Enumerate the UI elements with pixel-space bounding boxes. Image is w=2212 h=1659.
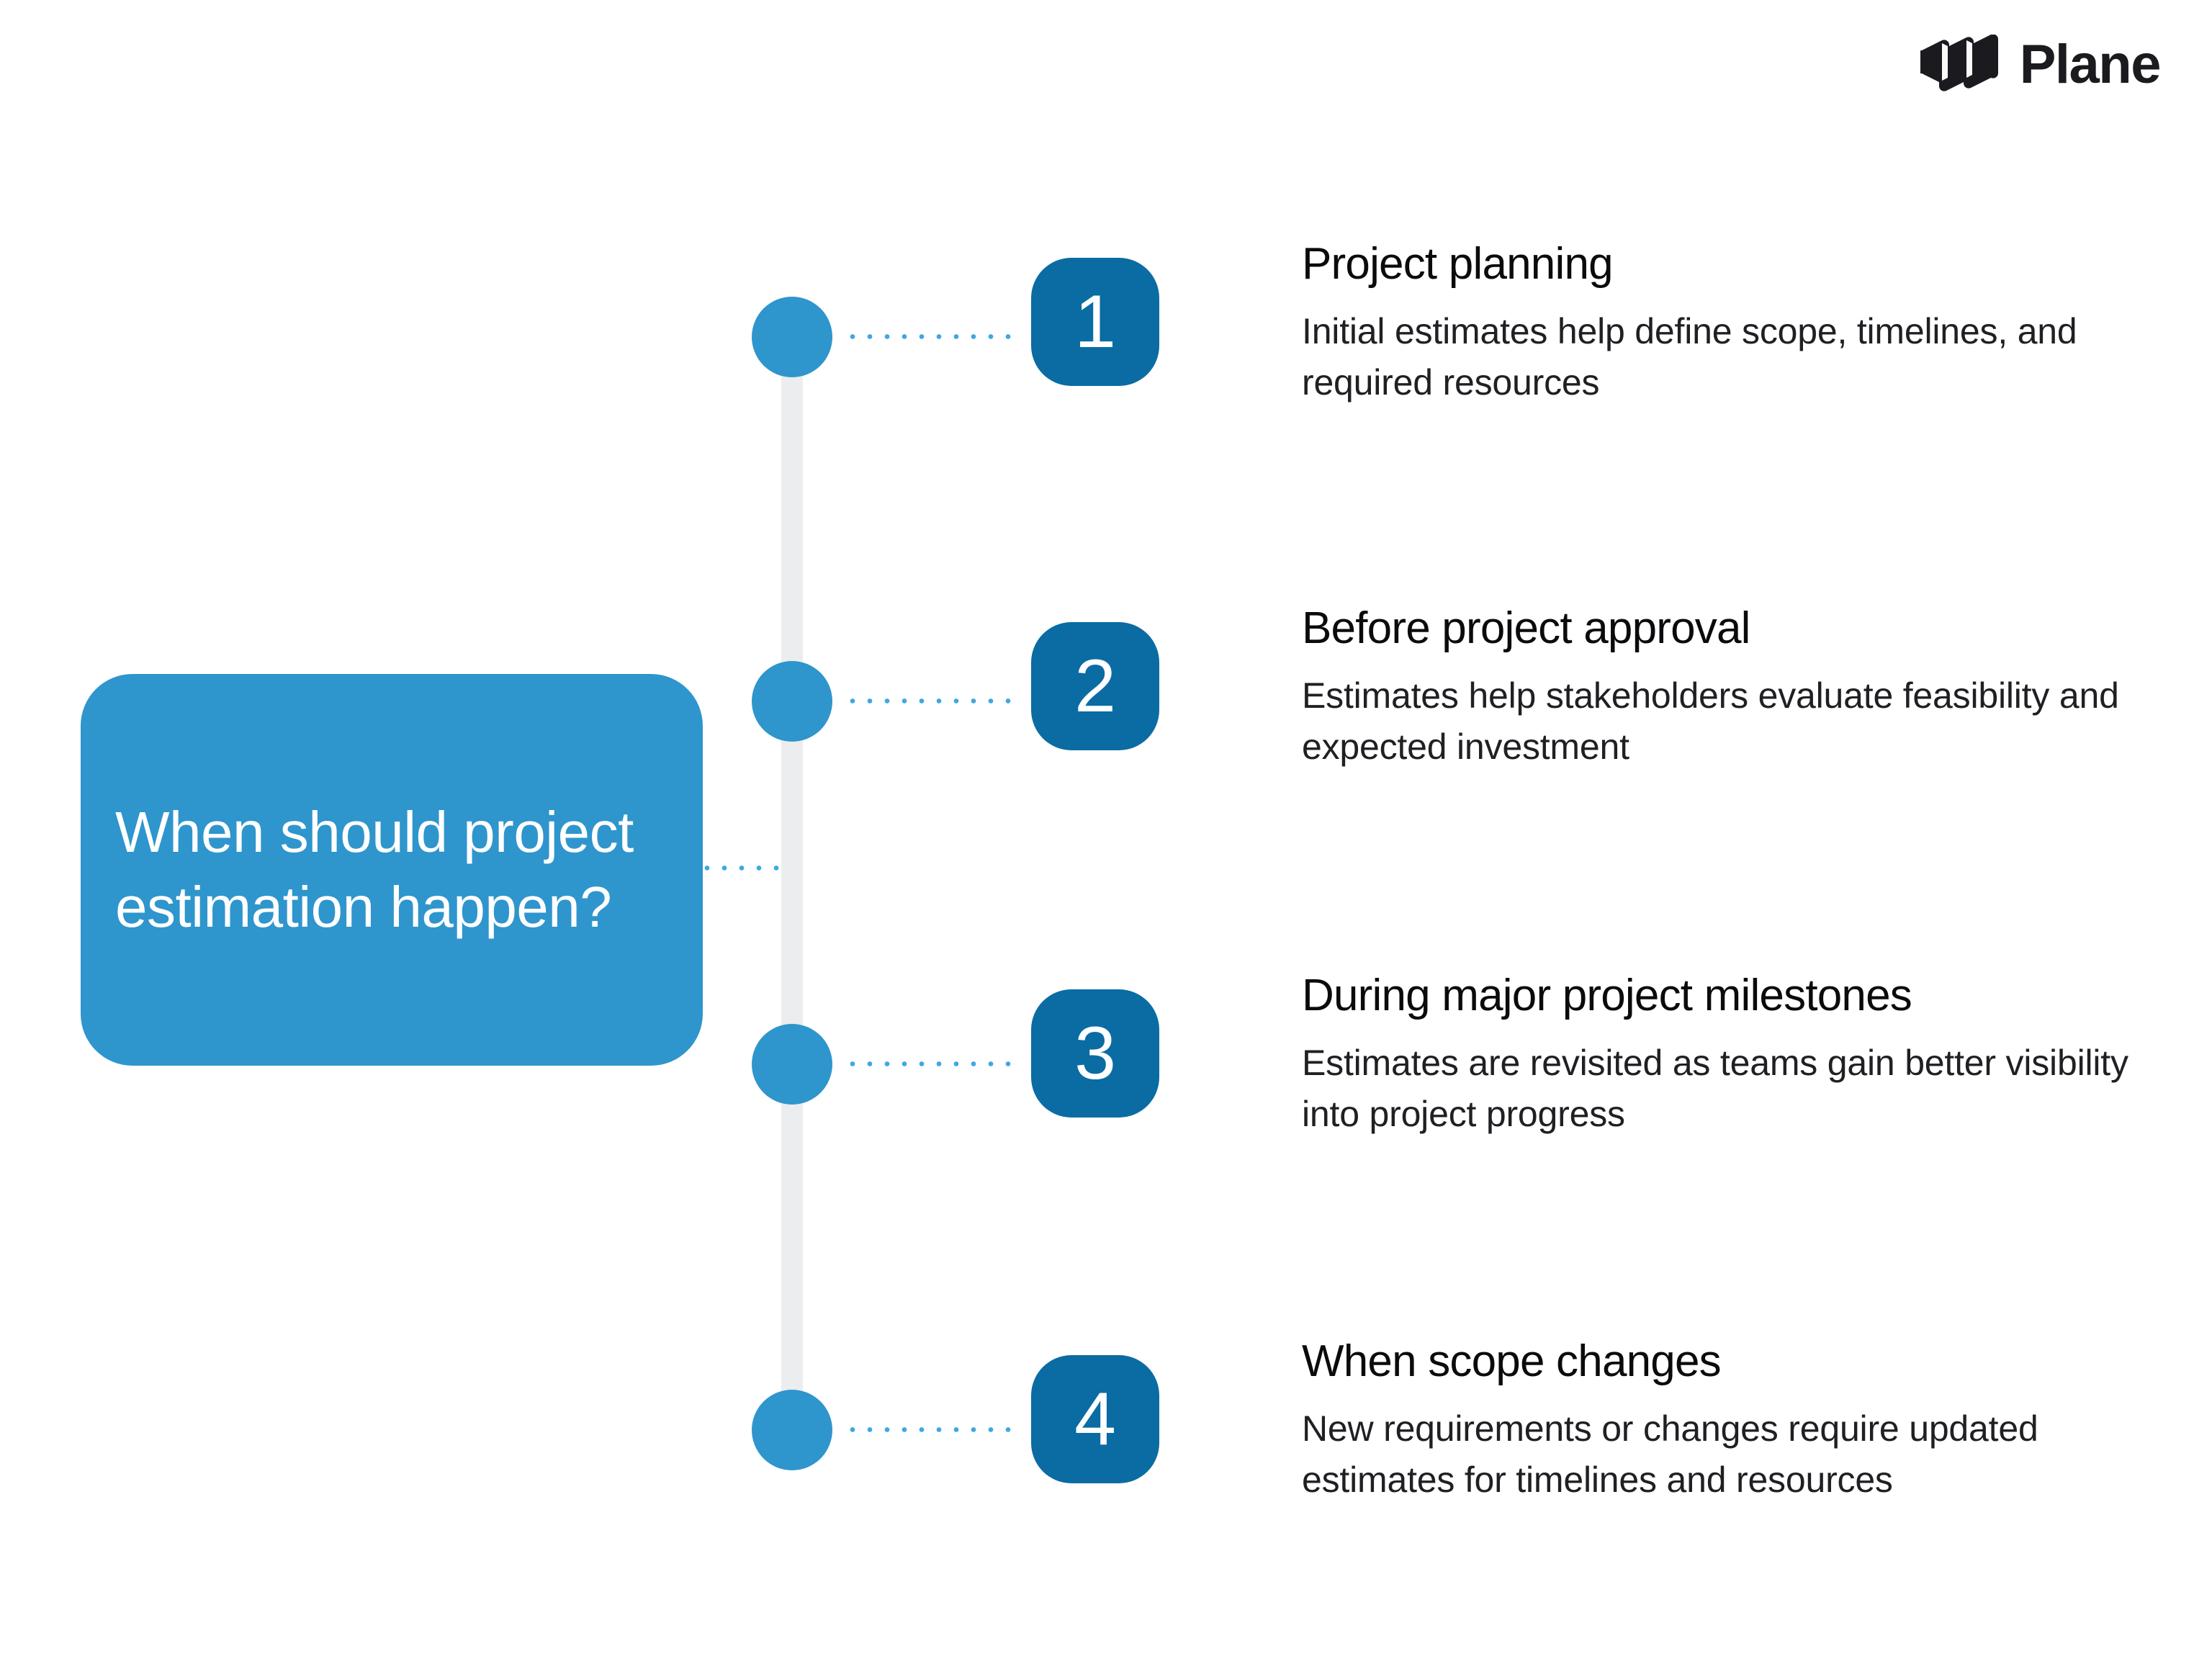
step-title-4: When scope changes	[1302, 1335, 2152, 1388]
dotted-connector-4	[844, 1426, 1022, 1434]
step-number-2: 2	[1074, 649, 1116, 724]
step-description-2: Estimates help stakeholders evaluate fea…	[1302, 670, 2152, 773]
step-description-3: Estimates are revisited as teams gain be…	[1302, 1038, 2152, 1140]
step-number-4: 4	[1074, 1382, 1116, 1457]
dotted-connector-callout	[698, 864, 785, 872]
step-title-2: Before project approval	[1302, 602, 2152, 655]
step-text-block-1: Project planning Initial estimates help …	[1302, 238, 2152, 408]
timeline-node-dot-1	[752, 297, 832, 377]
step-number-badge-1: 1	[1031, 258, 1159, 386]
step-description-4: New requirements or changes require upda…	[1302, 1403, 2152, 1506]
dotted-connector-3	[844, 1060, 1022, 1068]
step-text-block-2: Before project approval Estimates help s…	[1302, 602, 2152, 773]
step-title-3: During major project milestones	[1302, 969, 2152, 1022]
timeline-node-dot-4	[752, 1390, 832, 1470]
infographic-canvas: Plane When should project estimation hap…	[0, 0, 2212, 1659]
timeline-node-dot-2	[752, 661, 832, 742]
step-text-block-3: During major project milestones Estimate…	[1302, 969, 2152, 1140]
dotted-connector-1	[844, 333, 1022, 341]
step-text-block-4: When scope changes New requirements or c…	[1302, 1335, 2152, 1506]
brand-logo: Plane	[1920, 35, 2160, 95]
timeline-node-dot-3	[752, 1024, 832, 1105]
step-description-1: Initial estimates help define scope, tim…	[1302, 306, 2152, 408]
question-callout: When should project estimation happen?	[81, 674, 703, 1066]
dotted-connector-2	[844, 697, 1022, 705]
step-number-badge-2: 2	[1031, 622, 1159, 750]
step-number-badge-3: 3	[1031, 989, 1159, 1118]
step-number-1: 1	[1074, 284, 1116, 359]
brand-name: Plane	[2020, 37, 2160, 92]
question-text: When should project estimation happen?	[81, 795, 703, 945]
step-number-3: 3	[1074, 1016, 1116, 1091]
plane-logo-icon	[1920, 35, 2001, 95]
step-title-1: Project planning	[1302, 238, 2152, 290]
step-number-badge-4: 4	[1031, 1355, 1159, 1483]
